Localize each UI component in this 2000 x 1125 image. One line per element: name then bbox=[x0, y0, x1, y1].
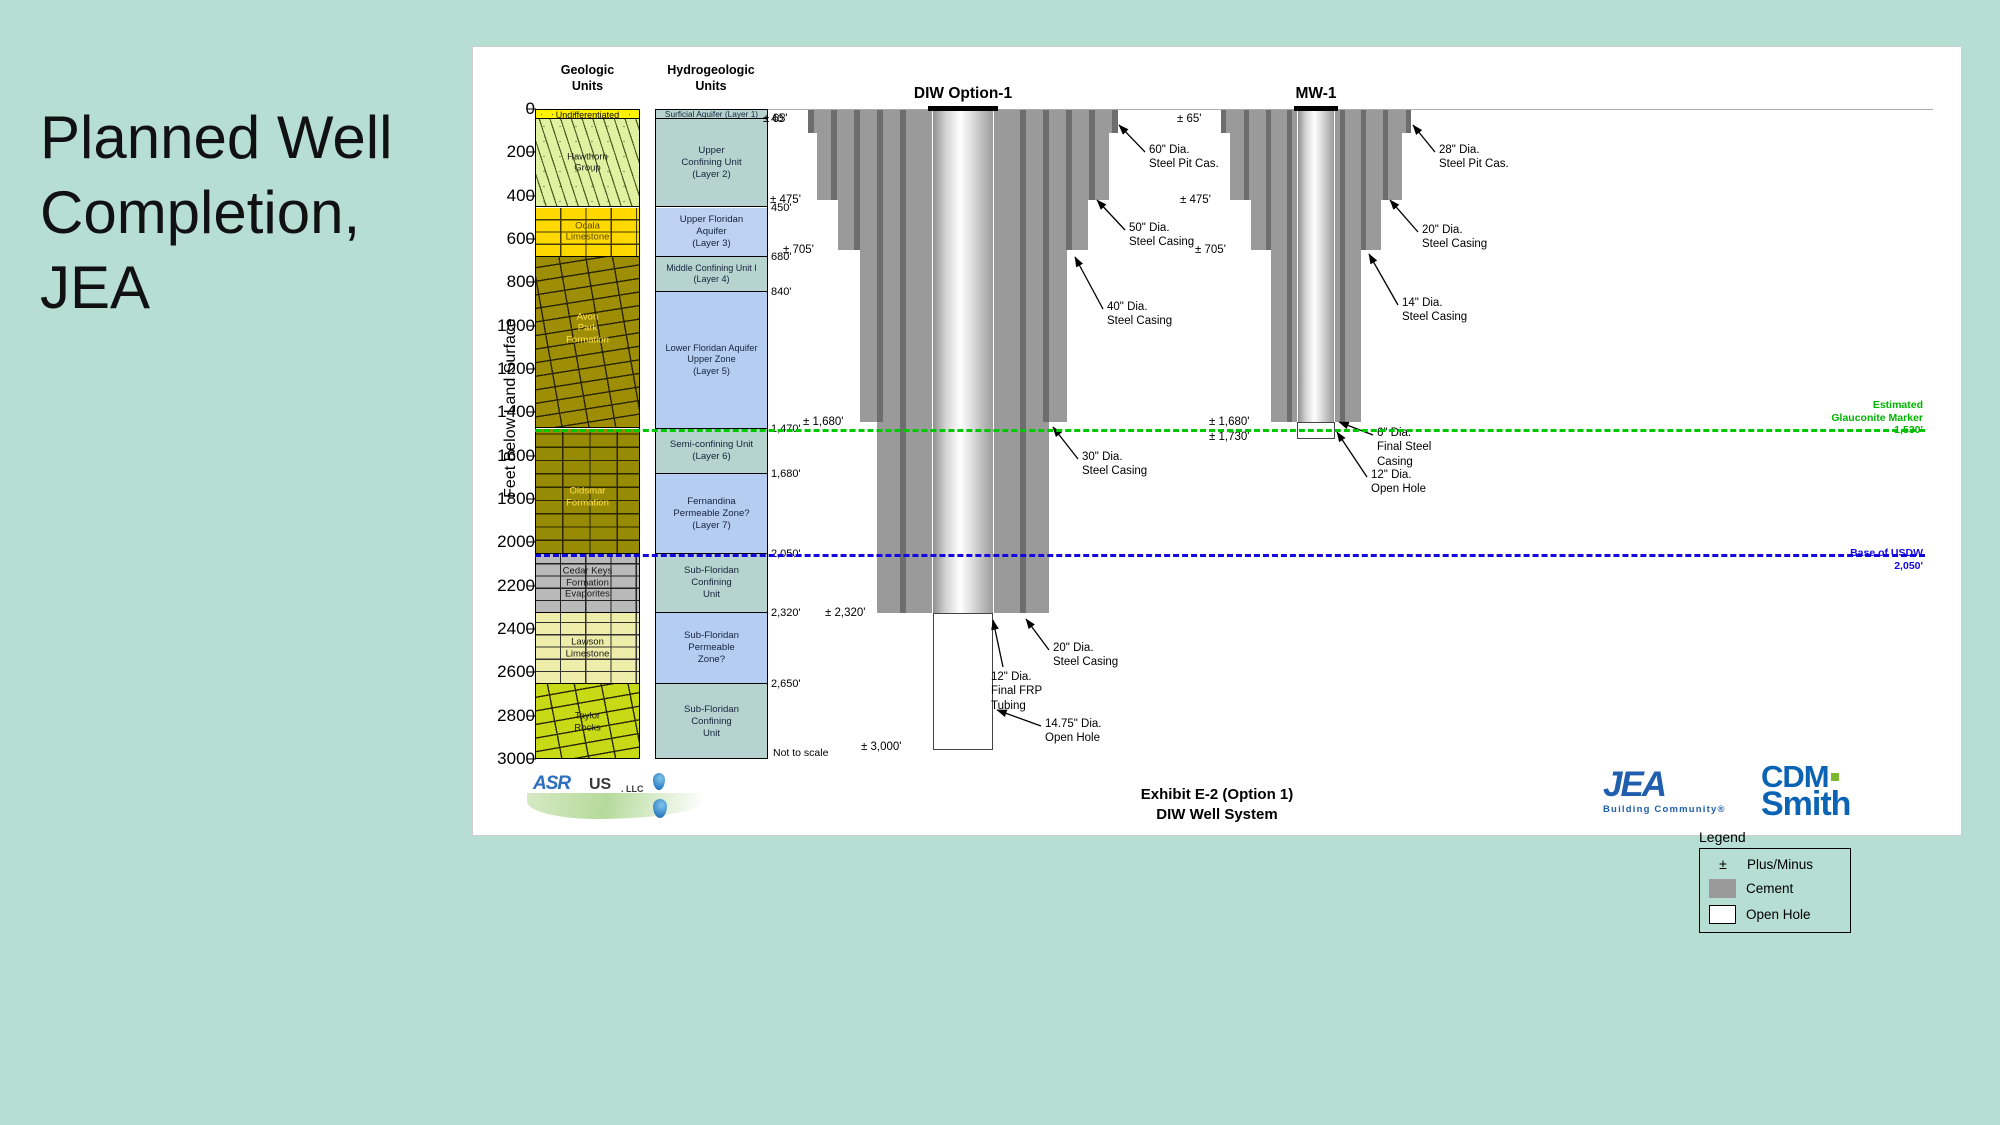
jea-logo: JEA Building Community® bbox=[1603, 767, 1726, 815]
cdm-dot-icon bbox=[1831, 773, 1839, 781]
exhibit-caption: Exhibit E-2 (Option 1) DIW Well System bbox=[1141, 785, 1294, 826]
geologic-bed-label: Oldsmar Formation bbox=[536, 486, 639, 509]
annotation-mw1-openhole: 12" Dia. Open Hole bbox=[1371, 468, 1426, 497]
annotation-mw1-28in: 28" Dia. Steel Pit Cas. bbox=[1439, 143, 1509, 172]
geologic-bed-label: Ocala Limestone bbox=[536, 220, 639, 243]
hydro-bed: Sub-Floridan Confining Unit bbox=[656, 684, 767, 759]
geologic-bed: Cedar Keys Formation Evaporites bbox=[536, 554, 639, 613]
depth-plusminus: ± 1,680' bbox=[1209, 416, 1249, 428]
depth-plusminus: ± 475' bbox=[770, 194, 801, 206]
water-drop-icon bbox=[653, 773, 665, 790]
casing-6in bbox=[1287, 110, 1292, 422]
hydrogeologic-units-column: Surficial Aquifer (Layer 1) Upper Confin… bbox=[655, 109, 768, 759]
casing-28in bbox=[1221, 110, 1226, 133]
wellhead-diw bbox=[928, 106, 998, 111]
hydro-bed-label: Upper Floridan Aquifer (Layer 3) bbox=[656, 214, 767, 250]
depth-marker: 840' bbox=[771, 286, 791, 298]
geologic-bed: Ocala Limestone bbox=[536, 208, 639, 258]
casing-30in bbox=[877, 110, 883, 422]
legend-item-open-hole: Open Hole bbox=[1709, 905, 1841, 924]
depth-plusminus: ± 475' bbox=[1180, 194, 1211, 206]
depth-plusminus: ± 705' bbox=[1195, 244, 1226, 256]
frp-tubing bbox=[932, 110, 994, 613]
annotation-diw-50in: 50" Dia. Steel Casing bbox=[1129, 221, 1194, 250]
hydro-bed-label: Semi-confining Unit (Layer 6) bbox=[656, 439, 767, 463]
well-title-diw: DIW Option-1 bbox=[914, 85, 1012, 103]
annotation-mw1-20in: 20" Dia. Steel Casing bbox=[1422, 223, 1487, 252]
casing-20in bbox=[1020, 110, 1026, 613]
client-logos: JEA Building Community® CDM Smith bbox=[1603, 763, 1928, 827]
geologic-bed-label: Lawson Limestone bbox=[536, 636, 639, 659]
casing-20in bbox=[1383, 110, 1388, 200]
depth-plusminus: ± 1,730' bbox=[1209, 431, 1249, 443]
annotation-mw1-14in: 14" Dia. Steel Casing bbox=[1402, 296, 1467, 325]
legend-label: Cement bbox=[1746, 881, 1793, 896]
hydro-bed-label: Sub-Floridan Permeable Zone? bbox=[656, 630, 767, 666]
water-drop-icon bbox=[653, 799, 667, 818]
cdm-smith-logo: CDM Smith bbox=[1761, 763, 1850, 820]
asrus-us: US bbox=[589, 776, 611, 794]
geologic-units-column: Hawthorn Group Ocala Limestone Avon Park… bbox=[535, 109, 640, 759]
legend-title: Legend bbox=[1699, 829, 1851, 845]
legend-item-cement: Cement bbox=[1709, 879, 1841, 898]
hydro-bed: Fernandina Permeable Zone? (Layer 7) bbox=[656, 474, 767, 554]
hydro-bed-label: Upper Confining Unit (Layer 2) bbox=[656, 145, 767, 181]
hydro-bed: Middle Confining Unit I (Layer 4) bbox=[656, 257, 767, 292]
casing-14in bbox=[1361, 110, 1366, 250]
annotation-diw-20in: 20" Dia. Steel Casing bbox=[1053, 641, 1118, 670]
casing-50in bbox=[1089, 110, 1095, 200]
final-steel-casing-mw1 bbox=[1297, 110, 1335, 422]
geologic-bed-label: Avon Park Formation bbox=[536, 311, 639, 346]
annotation-mw1-6in: 6" Dia. Final Steel Casing bbox=[1377, 426, 1431, 469]
asrus-suffix: . LLC bbox=[621, 784, 644, 794]
cdm-line2: Smith bbox=[1761, 790, 1850, 820]
annotation-diw-openhole: 14.75" Dia. Open Hole bbox=[1045, 717, 1102, 746]
depth-plusminus: ± 65' bbox=[763, 113, 788, 125]
marker-label-glauconite: Estimated Glauconite Marker 1,530' bbox=[1753, 399, 1923, 437]
plus-minus-icon: ± bbox=[1709, 856, 1737, 872]
hydro-bed: Sub-Floridan Permeable Zone? bbox=[656, 613, 767, 685]
page-title: Planned Well Completion, JEA bbox=[40, 100, 440, 325]
slide: Planned Well Completion, JEA Geologic Un… bbox=[0, 0, 2000, 1125]
jea-wordmark: JEA bbox=[1603, 767, 1726, 802]
depth-plusminus: ± 65' bbox=[1177, 113, 1202, 125]
hydro-bed-label: Sub-Floridan Confining Unit bbox=[656, 704, 767, 740]
y-axis-ticks: 0 200 400 600 800 1000 1200 1400 1600 18… bbox=[473, 47, 535, 837]
casing-30in bbox=[1043, 110, 1049, 422]
asrus-logo: ASR US . LLC bbox=[521, 763, 711, 825]
not-to-scale-note: Not to scale bbox=[773, 747, 828, 759]
hydro-bed-label: Surficial Aquifer (Layer 1) bbox=[656, 110, 767, 119]
casing-28in bbox=[1406, 110, 1411, 133]
depth-plusminus: ± 2,320' bbox=[825, 607, 865, 619]
wellhead-mw1 bbox=[1294, 106, 1338, 111]
casing-50in bbox=[831, 110, 837, 200]
geologic-bed: Lawson Limestone bbox=[536, 613, 639, 685]
legend-label: Open Hole bbox=[1746, 907, 1811, 922]
casing-60in bbox=[1112, 110, 1118, 133]
casing-6in bbox=[1340, 110, 1345, 422]
depth-marker: 2,650' bbox=[771, 678, 801, 690]
geologic-bed-label: Cedar Keys Formation Evaporites bbox=[536, 566, 639, 601]
legend: Legend ± Plus/Minus Cement Open Hole bbox=[1699, 829, 1851, 933]
asrus-mark: ASR bbox=[533, 773, 570, 795]
depth-marker: 2,320' bbox=[771, 607, 801, 619]
casing-14in bbox=[1266, 110, 1271, 250]
casing-20in bbox=[900, 110, 906, 613]
marker-line-base-usdw bbox=[535, 554, 1925, 557]
hydro-bed-label: Lower Floridan Aquifer Upper Zone (Layer… bbox=[656, 343, 767, 378]
jea-tagline: Building Community® bbox=[1603, 804, 1726, 815]
geologic-bed-label: Taylor Rocks bbox=[536, 711, 639, 734]
hydro-bed: Upper Floridan Aquifer (Layer 3) bbox=[656, 208, 767, 258]
depth-plusminus: ± 1,680' bbox=[803, 416, 843, 428]
hydro-bed-label: Sub-Floridan Confining Unit bbox=[656, 565, 767, 601]
open-hole-swatch-icon bbox=[1709, 905, 1736, 924]
annotation-diw-60in: 60" Dia. Steel Pit Cas. bbox=[1149, 143, 1219, 172]
casing-40in bbox=[1066, 110, 1072, 250]
geologic-bed: Hawthorn Group bbox=[536, 119, 639, 208]
cement-swatch-icon bbox=[1709, 879, 1736, 898]
hydro-bed: Surficial Aquifer (Layer 1) bbox=[656, 110, 767, 119]
annotation-diw-frp: 12" Dia. Final FRP Tubing bbox=[991, 670, 1042, 713]
hydro-bed: Semi-confining Unit (Layer 6) bbox=[656, 429, 767, 475]
geologic-units-header: Geologic Units bbox=[535, 63, 640, 94]
casing-40in bbox=[854, 110, 860, 250]
depth-plusminus: ± 705' bbox=[783, 244, 814, 256]
geologic-bed-label: Hawthorn Group bbox=[536, 151, 639, 174]
hydrogeologic-units-header: Hydrogeologic Units bbox=[651, 63, 771, 94]
casing-60in bbox=[808, 110, 814, 133]
hydro-bed: Sub-Floridan Confining Unit bbox=[656, 554, 767, 613]
annotation-diw-30in: 30" Dia. Steel Casing bbox=[1082, 450, 1147, 479]
casing-20in bbox=[1244, 110, 1249, 200]
swoosh-graphic bbox=[527, 793, 702, 819]
marker-line-glauconite bbox=[535, 429, 1925, 432]
well-completion-diagram: Geologic Units Hydrogeologic Units Feet … bbox=[472, 46, 1962, 836]
geologic-bed: Avon Park Formation bbox=[536, 257, 639, 428]
depth-marker: 1,680' bbox=[771, 468, 801, 480]
hydro-bed-label: Middle Confining Unit I (Layer 4) bbox=[656, 263, 767, 286]
hydro-bed: Upper Confining Unit (Layer 2) bbox=[656, 119, 767, 208]
hydro-bed: Lower Floridan Aquifer Upper Zone (Layer… bbox=[656, 292, 767, 429]
marker-label-base-usdw: Base of USDW 2,050' bbox=[1773, 547, 1923, 572]
open-hole-diw bbox=[933, 613, 993, 750]
geologic-bed-label-undifferentiated: Undifferentiated bbox=[535, 110, 640, 120]
hydro-bed-label: Fernandina Permeable Zone? (Layer 7) bbox=[656, 496, 767, 532]
legend-label: Plus/Minus bbox=[1747, 857, 1813, 872]
well-title-mw1: MW-1 bbox=[1295, 85, 1336, 103]
legend-item-plus-minus: ± Plus/Minus bbox=[1709, 856, 1841, 872]
geologic-bed: Oldsmar Formation bbox=[536, 429, 639, 555]
depth-plusminus: ± 3,000' bbox=[861, 741, 901, 753]
geologic-bed: Taylor Rocks bbox=[536, 684, 639, 759]
annotation-diw-40in: 40" Dia. Steel Casing bbox=[1107, 300, 1172, 329]
